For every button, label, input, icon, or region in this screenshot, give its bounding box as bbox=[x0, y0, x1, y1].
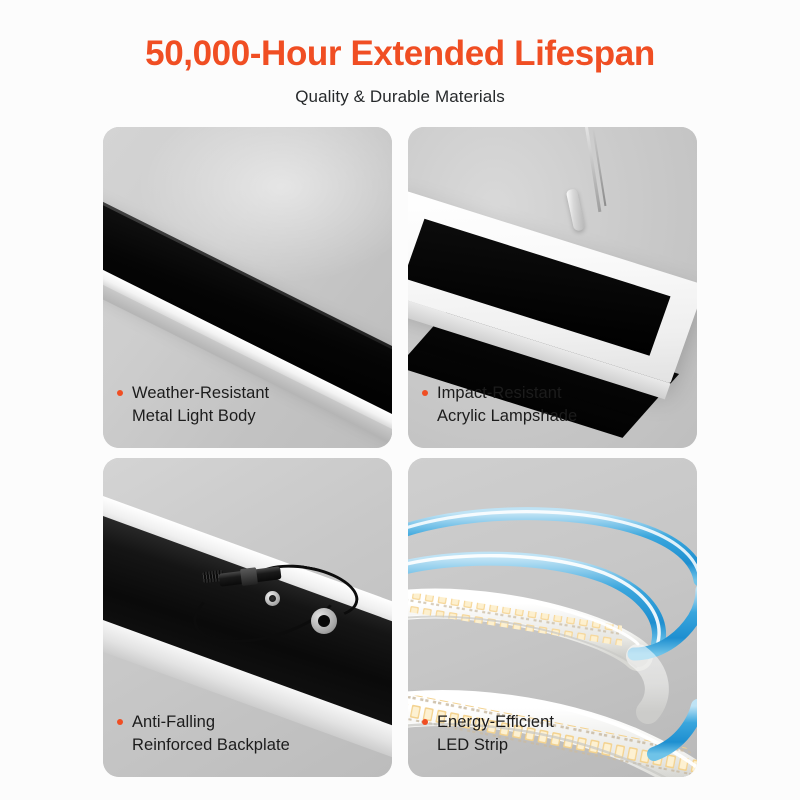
feature-caption: Energy-Efficient LED Strip bbox=[422, 711, 687, 757]
feature-card-acrylic-lampshade[interactable]: Impact-Resistant Acrylic Lampshade bbox=[408, 127, 697, 448]
feature-caption-text: Impact-Resistant Acrylic Lampshade bbox=[437, 382, 577, 428]
feature-caption: Anti-Falling Reinforced Backplate bbox=[117, 711, 382, 757]
feature-card-led-strip[interactable]: Energy-Efficient LED Strip bbox=[408, 458, 697, 777]
bullet-dot-icon bbox=[117, 719, 123, 725]
feature-grid: Weather-Resistant Metal Light Body Impac… bbox=[103, 127, 697, 777]
feature-caption: Impact-Resistant Acrylic Lampshade bbox=[422, 382, 687, 428]
bullet-dot-icon bbox=[117, 390, 123, 396]
bullet-dot-icon bbox=[422, 390, 428, 396]
bullet-dot-icon bbox=[422, 719, 428, 725]
header: 50,000-Hour Extended Lifespan Quality & … bbox=[0, 0, 800, 107]
feature-caption-text: Weather-Resistant Metal Light Body bbox=[132, 382, 269, 428]
feature-caption: Weather-Resistant Metal Light Body bbox=[117, 382, 382, 428]
page-title: 50,000-Hour Extended Lifespan bbox=[0, 36, 800, 71]
feature-caption-text: Anti-Falling Reinforced Backplate bbox=[132, 711, 290, 757]
feature-card-metal-light-body[interactable]: Weather-Resistant Metal Light Body bbox=[103, 127, 392, 448]
page-subtitle: Quality & Durable Materials bbox=[0, 71, 800, 107]
feature-caption-text: Energy-Efficient LED Strip bbox=[437, 711, 554, 757]
feature-card-reinforced-backplate[interactable]: Anti-Falling Reinforced Backplate bbox=[103, 458, 392, 777]
